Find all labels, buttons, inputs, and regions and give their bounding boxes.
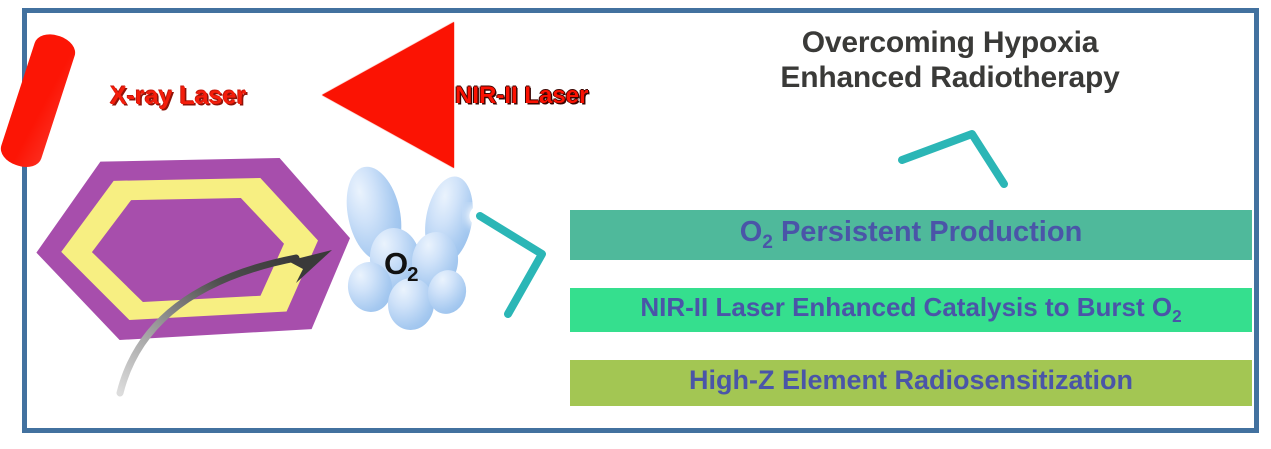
result-bar-label: O2 Persistent Production (740, 216, 1083, 254)
laser-spark-icon (888, 104, 1020, 196)
page-title: Overcoming Hypoxia Enhanced Radiotherapy (700, 26, 1200, 96)
graphical-abstract: Overcoming Hypoxia Enhanced Radiotherapy… (0, 0, 1271, 449)
oxygen-symbol: O (384, 246, 407, 281)
result-bar-o2-production: O2 Persistent Production (570, 210, 1252, 260)
nir-laser-label: NIR-II Laser (455, 82, 588, 110)
result-text-sub: 2 (1172, 307, 1182, 327)
title-line-2: Enhanced Radiotherapy (700, 61, 1200, 96)
result-text-sub: 2 (762, 232, 773, 253)
result-text-main: O (740, 216, 763, 248)
result-text-main: High-Z Element Radiosensitization (689, 365, 1133, 395)
oxygen-label: O2 (384, 246, 418, 287)
result-text-tail: Persistent Production (773, 216, 1082, 248)
catalysis-arrow-icon (100, 225, 370, 410)
result-bar-nir-catalysis: NIR-II Laser Enhanced Catalysis to Burst… (570, 288, 1252, 332)
oxygen-subscript: 2 (407, 263, 417, 286)
xray-laser-label: X-ray Laser (110, 82, 246, 111)
result-bar-radiosensitization: High-Z Element Radiosensitization (570, 360, 1252, 406)
title-line-1: Overcoming Hypoxia (802, 26, 1099, 59)
result-text-main: NIR-II Laser Enhanced Catalysis to Burst… (640, 292, 1172, 322)
laser-spark-icon (462, 202, 582, 327)
result-bar-label: NIR-II Laser Enhanced Catalysis to Burst… (640, 292, 1181, 327)
nir-triangle-icon (322, 22, 454, 168)
result-bar-label: High-Z Element Radiosensitization (689, 365, 1133, 400)
